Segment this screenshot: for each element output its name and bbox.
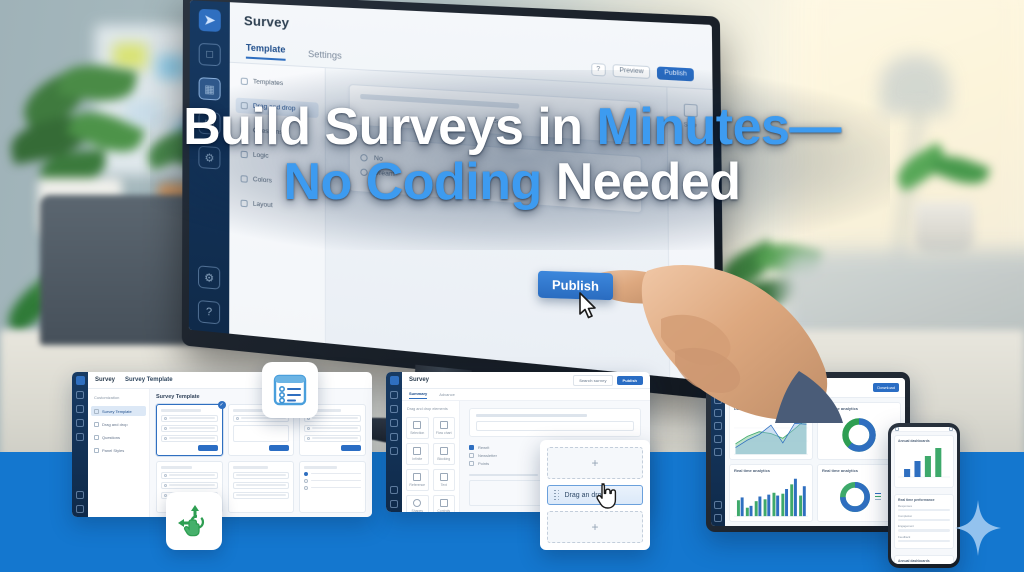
- forms-icon[interactable]: [76, 419, 84, 427]
- tab-template[interactable]: Template: [246, 42, 286, 60]
- element-tile[interactable]: Shapes: [406, 495, 429, 512]
- legend: [875, 493, 881, 501]
- mockup-body: Customization Survey Template Drag and d…: [88, 389, 372, 517]
- element-tile[interactable]: Infinite: [406, 443, 429, 465]
- arrow-cursor-icon: [578, 292, 600, 325]
- chart-title: Real time analytics: [822, 468, 896, 473]
- nav-label: Drag and drop: [102, 422, 128, 427]
- checkbox-icon: [469, 445, 474, 450]
- element-tile[interactable]: Blocking: [433, 443, 456, 465]
- phone-mockup-dashboard: Annual dashboards Real time performance …: [888, 423, 960, 568]
- element-label: Selection: [410, 431, 424, 435]
- palette-icon: [94, 448, 99, 453]
- drag-gesture-icon: [176, 503, 212, 539]
- sidebar-item-questions[interactable]: Questions: [91, 432, 146, 442]
- branch-icon: [241, 151, 248, 159]
- cursor-icon: [241, 102, 248, 110]
- survey-form-icon: [273, 374, 307, 406]
- progress-label: Responses: [898, 504, 950, 508]
- nav-label: Survey Template: [102, 409, 132, 414]
- help-icon[interactable]: ?: [198, 300, 220, 325]
- element-tile[interactable]: Flow chart: [433, 417, 456, 439]
- app-title: Survey: [409, 377, 429, 383]
- chart-title: Real time analytics: [734, 468, 808, 473]
- sidebar-item-templates[interactable]: Templates: [236, 73, 319, 93]
- chart-title: Annual dashboards: [898, 439, 950, 443]
- app-title: Survey: [95, 377, 115, 383]
- nav-label: Layout: [253, 201, 273, 210]
- checkbox-icon: [469, 453, 474, 458]
- list-icon: [94, 435, 99, 440]
- phone-screen: Annual dashboards Real time performance …: [891, 427, 957, 564]
- paragraph-icon: [440, 473, 448, 481]
- checkbox-label: Newsletter: [478, 453, 497, 458]
- element-tile[interactable]: Selection: [406, 417, 429, 439]
- selected-check-icon: ✓: [218, 401, 226, 409]
- tab-summary[interactable]: Summary: [409, 391, 427, 399]
- desktop-mockup-templates: Survey Survey Template Customization Sur…: [72, 372, 372, 517]
- left-nav: Templates Drag and drop Questions L: [229, 63, 326, 343]
- mockup-rail: [386, 372, 402, 512]
- card-icon: [440, 499, 448, 507]
- download-button[interactable]: Download: [873, 383, 899, 392]
- preview-button[interactable]: Preview: [613, 64, 651, 79]
- forms-icon[interactable]: [390, 419, 398, 427]
- mockup-rail: [72, 372, 88, 517]
- element-tile[interactable]: Text: [433, 469, 456, 491]
- drag-handle-icon[interactable]: [554, 490, 560, 501]
- progress-row: Feedback: [898, 535, 950, 542]
- help-icon[interactable]: [390, 500, 398, 508]
- help-icon[interactable]: [714, 514, 722, 522]
- pointing-hand: [575, 243, 845, 428]
- reports-icon[interactable]: [76, 433, 84, 441]
- palette-icon: [241, 175, 248, 183]
- progress-label: Engagement: [898, 524, 950, 528]
- options-card[interactable]: No Dream: [349, 137, 643, 214]
- app-logo-icon[interactable]: [390, 376, 399, 385]
- drop-slot-top[interactable]: +: [547, 447, 643, 479]
- settings-icon[interactable]: ⚙: [198, 146, 220, 170]
- settings-icon[interactable]: [390, 447, 398, 455]
- plus-icon: +: [591, 520, 598, 534]
- gear-icon[interactable]: ⚙: [198, 265, 220, 289]
- flow-icon: [440, 421, 448, 429]
- nav-label: Templates: [253, 78, 283, 87]
- bar-chart: [898, 445, 950, 479]
- radio-icon: [360, 154, 367, 162]
- phone-chart-card[interactable]: Annual dashboards: [894, 435, 954, 488]
- template-card[interactable]: [299, 461, 366, 513]
- template-icon: [94, 409, 99, 414]
- dashboard-icon[interactable]: □: [199, 43, 221, 66]
- nav-label: Questions: [253, 127, 283, 136]
- plus-icon: +: [591, 456, 598, 470]
- hand-cursor-icon: [594, 482, 620, 517]
- publish-button[interactable]: Publish: [538, 271, 613, 301]
- circle-icon: [413, 499, 421, 507]
- element-label: Reference: [409, 483, 425, 487]
- element-tile[interactable]: Reference: [406, 469, 429, 491]
- element-tile[interactable]: Controls: [433, 495, 456, 512]
- list-icon: [413, 473, 421, 481]
- element-label: Flow chart: [436, 431, 452, 435]
- element-label: Infinite: [412, 457, 422, 461]
- donut-chart: [822, 475, 896, 518]
- tab-advance[interactable]: Advance: [439, 392, 455, 397]
- section-title: Survey Template: [156, 394, 366, 400]
- sidebar-item-survey-template[interactable]: Survey Template: [91, 406, 146, 416]
- sidebar-item-colors[interactable]: Colors: [236, 171, 319, 193]
- gear-icon[interactable]: [714, 501, 722, 509]
- templates-icon[interactable]: [390, 405, 398, 413]
- radio-icon: [360, 168, 367, 176]
- panel-title: Drag and drop elements: [404, 405, 457, 414]
- app-logo-icon[interactable]: ➤: [199, 9, 221, 32]
- chart-card-bar[interactable]: Real time analytics: [729, 464, 813, 522]
- sparkle-icon: [955, 500, 1001, 561]
- toolbar-actions: ? Preview Publish: [591, 62, 694, 81]
- checkbox-label: Points: [478, 461, 489, 466]
- phone-progress-card[interactable]: Real time performance Responses Completi…: [894, 494, 954, 549]
- nav-label: Panel Styles: [102, 448, 124, 453]
- sidebar-item-logic[interactable]: Logic: [236, 146, 319, 167]
- dashboard-icon[interactable]: [76, 391, 84, 399]
- templates-icon[interactable]: [76, 405, 84, 413]
- layout-icon: [241, 200, 248, 208]
- nav-group-label: Customization: [91, 393, 146, 403]
- element-label: Text: [441, 483, 447, 487]
- save-icon[interactable]: [683, 104, 697, 118]
- elements-panel: Drag and drop elements Selection Flow ch…: [402, 401, 460, 512]
- checkbox-icon: [469, 461, 474, 466]
- columns-icon: [440, 447, 448, 455]
- template-card[interactable]: ✓: [156, 404, 223, 456]
- question-label: Yes: [360, 109, 629, 133]
- reports-icon[interactable]: [714, 435, 722, 443]
- element-label: Shapes: [412, 509, 424, 512]
- sidebar-item-drag-and-drop[interactable]: Drag and drop: [236, 98, 319, 119]
- phone-footer-card[interactable]: Annual dashboards: [894, 555, 954, 564]
- users-icon[interactable]: [714, 448, 722, 456]
- mockup-window: Survey Survey Template Customization Sur…: [88, 372, 372, 517]
- radio-label: Dream: [374, 169, 395, 178]
- tab-settings[interactable]: Settings: [308, 48, 342, 60]
- dashboard-icon[interactable]: [390, 391, 398, 399]
- progress-label: Completion: [898, 514, 950, 518]
- grid-icon: [241, 78, 248, 86]
- more-icon[interactable]: [949, 427, 953, 431]
- drag-gesture-icon-badge: [166, 492, 222, 550]
- cursor-icon: [94, 422, 99, 427]
- nav-label: Logic: [253, 152, 269, 160]
- grid-icon: [413, 421, 421, 429]
- sidebar-item-layout[interactable]: Layout: [235, 195, 318, 217]
- publish-button-small[interactable]: Publish: [657, 66, 694, 81]
- element-grid: Selection Flow chart Infinite Block: [404, 417, 457, 512]
- mockup-nav: Customization Survey Template Drag and d…: [88, 389, 150, 517]
- card-title: Annual dashboards: [898, 559, 950, 563]
- progress-row: Responses: [898, 504, 950, 511]
- gear-icon[interactable]: [76, 491, 84, 499]
- help-icon[interactable]: [76, 505, 84, 513]
- app-sidebar: ➤ □ ▦ ◫ ⚙ ⚙ ?: [189, 0, 230, 333]
- reports-icon[interactable]: [390, 433, 398, 441]
- sidebar-item-drag-and-drop[interactable]: Drag and drop: [91, 419, 146, 429]
- checkbox-label: Rewrit: [478, 445, 489, 450]
- create-button[interactable]: [341, 445, 361, 451]
- gear-icon[interactable]: [390, 486, 398, 494]
- sidebar-item-panel-styles[interactable]: Panel Styles: [91, 445, 146, 455]
- app-logo-icon[interactable]: [76, 376, 85, 385]
- templates-icon[interactable]: ▦: [199, 77, 221, 101]
- radio-label: No: [374, 155, 383, 163]
- menu-icon[interactable]: [895, 427, 899, 431]
- text-icon: [413, 447, 421, 455]
- question-icon[interactable]: ?: [591, 62, 606, 76]
- create-button[interactable]: [198, 445, 218, 451]
- card-title: Real time performance: [898, 498, 950, 502]
- nav-label: Questions: [102, 435, 120, 440]
- page-title: Survey Template: [125, 377, 173, 383]
- phone-header: [891, 427, 957, 432]
- list-icon: [241, 126, 248, 134]
- nav-label: Drag and drop: [253, 103, 295, 113]
- progress-row: Completion: [898, 514, 950, 521]
- progress-row: Engagement: [898, 524, 950, 531]
- create-button[interactable]: [269, 445, 289, 451]
- element-label: Blocking: [437, 457, 450, 461]
- survey-form-icon-badge: [262, 362, 318, 418]
- bar-chart: [734, 475, 808, 518]
- question-card[interactable]: Yes: [349, 84, 642, 144]
- element-label: Controls: [437, 509, 450, 512]
- progress-label: Feedback: [898, 535, 950, 539]
- promotional-banner: ➤ □ ▦ ◫ ⚙ ⚙ ? Survey Template Settings ?…: [0, 0, 1024, 572]
- nav-label: Colors: [253, 176, 272, 185]
- template-card[interactable]: [228, 461, 295, 513]
- sidebar-item-questions[interactable]: Questions: [236, 122, 319, 143]
- mockup-header: Survey Survey Template: [88, 372, 372, 389]
- right-panel-label: Save: [684, 122, 697, 129]
- forms-icon[interactable]: ◫: [198, 111, 220, 135]
